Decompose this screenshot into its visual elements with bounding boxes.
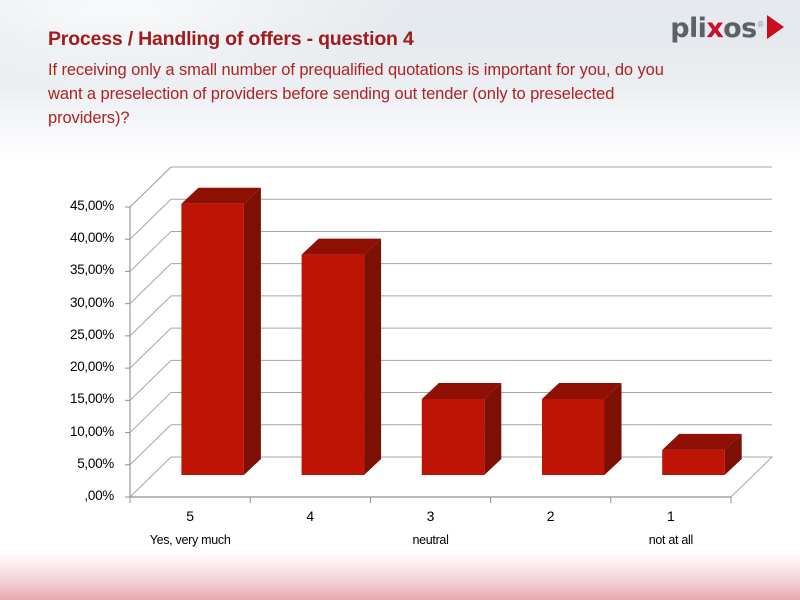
- x-tick-marks: [130, 497, 731, 503]
- bar-5: [181, 188, 261, 475]
- y-tick-marks: [125, 207, 130, 497]
- logo-text-accent: x: [706, 13, 723, 44]
- bar-front-face: [662, 450, 725, 475]
- gridline-depth: [130, 360, 171, 400]
- bar-side-face: [605, 383, 622, 475]
- bar-side-face: [364, 239, 381, 475]
- page-subtitle: If receiving only a small number of preq…: [48, 58, 668, 130]
- y-axis-tick-label: 25,00%: [28, 327, 114, 342]
- y-axis-tick-label: 45,00%: [28, 198, 114, 213]
- page-title: Process / Handling of offers - question …: [48, 28, 708, 51]
- gridline-depth: [130, 264, 171, 304]
- bar-side-face: [484, 383, 501, 475]
- y-axis-tick-label: 10,00%: [28, 424, 114, 439]
- x-axis-category-label: 3: [391, 508, 471, 524]
- y-axis-tick-label: 40,00%: [28, 230, 114, 245]
- bar-chart: ,00%5,00%10,00%15,00%20,00%25,00%30,00%3…: [0, 160, 800, 560]
- x-axis-category-label: 1: [631, 508, 711, 524]
- bar-front-face: [181, 204, 244, 475]
- y-axis-tick-label: 20,00%: [28, 359, 114, 374]
- bar-front-face: [302, 255, 365, 475]
- gridline-depth: [130, 328, 171, 368]
- bar-4: [302, 239, 382, 475]
- y-axis-tick-label: ,00%: [28, 488, 114, 503]
- x-axis-category-label: 2: [511, 508, 591, 524]
- x-axis-category-label: 5: [150, 508, 230, 524]
- gridline-depth: [130, 167, 171, 207]
- gridline-depth: [130, 296, 171, 336]
- bar-3: [422, 383, 502, 475]
- y-axis-tick-label: 5,00%: [28, 456, 114, 471]
- slide-footer: [0, 552, 800, 600]
- x-axis-category-label: 4: [270, 508, 350, 524]
- y-axis-tick-label: 15,00%: [28, 391, 114, 406]
- bar-2: [542, 383, 622, 475]
- bar-front-face: [422, 399, 485, 475]
- gridline-depth: [130, 425, 171, 465]
- bar-series: [181, 188, 741, 475]
- x-axis-sublabel: Yes, very much: [125, 533, 255, 547]
- y-axis-tick-label: 30,00%: [28, 295, 114, 310]
- chart-canvas: [0, 160, 800, 560]
- slide: plixos® Process / Handling of offers - q…: [0, 0, 800, 600]
- x-axis-sublabel: not at all: [606, 533, 736, 547]
- gridline-depth: [130, 231, 171, 271]
- registered-mark: ®: [757, 20, 764, 29]
- slide-header: plixos® Process / Handling of offers - q…: [0, 0, 800, 160]
- bar-front-face: [542, 399, 605, 475]
- bar-side-face: [244, 188, 261, 475]
- x-axis-sublabel: neutral: [366, 533, 496, 547]
- right-triangle-icon: [767, 15, 784, 39]
- logo-text-after: os: [723, 13, 756, 44]
- bar-1: [662, 434, 742, 475]
- gridline-depth: [130, 199, 171, 239]
- gridline-depth: [130, 393, 171, 433]
- y-axis-tick-label: 35,00%: [28, 262, 114, 277]
